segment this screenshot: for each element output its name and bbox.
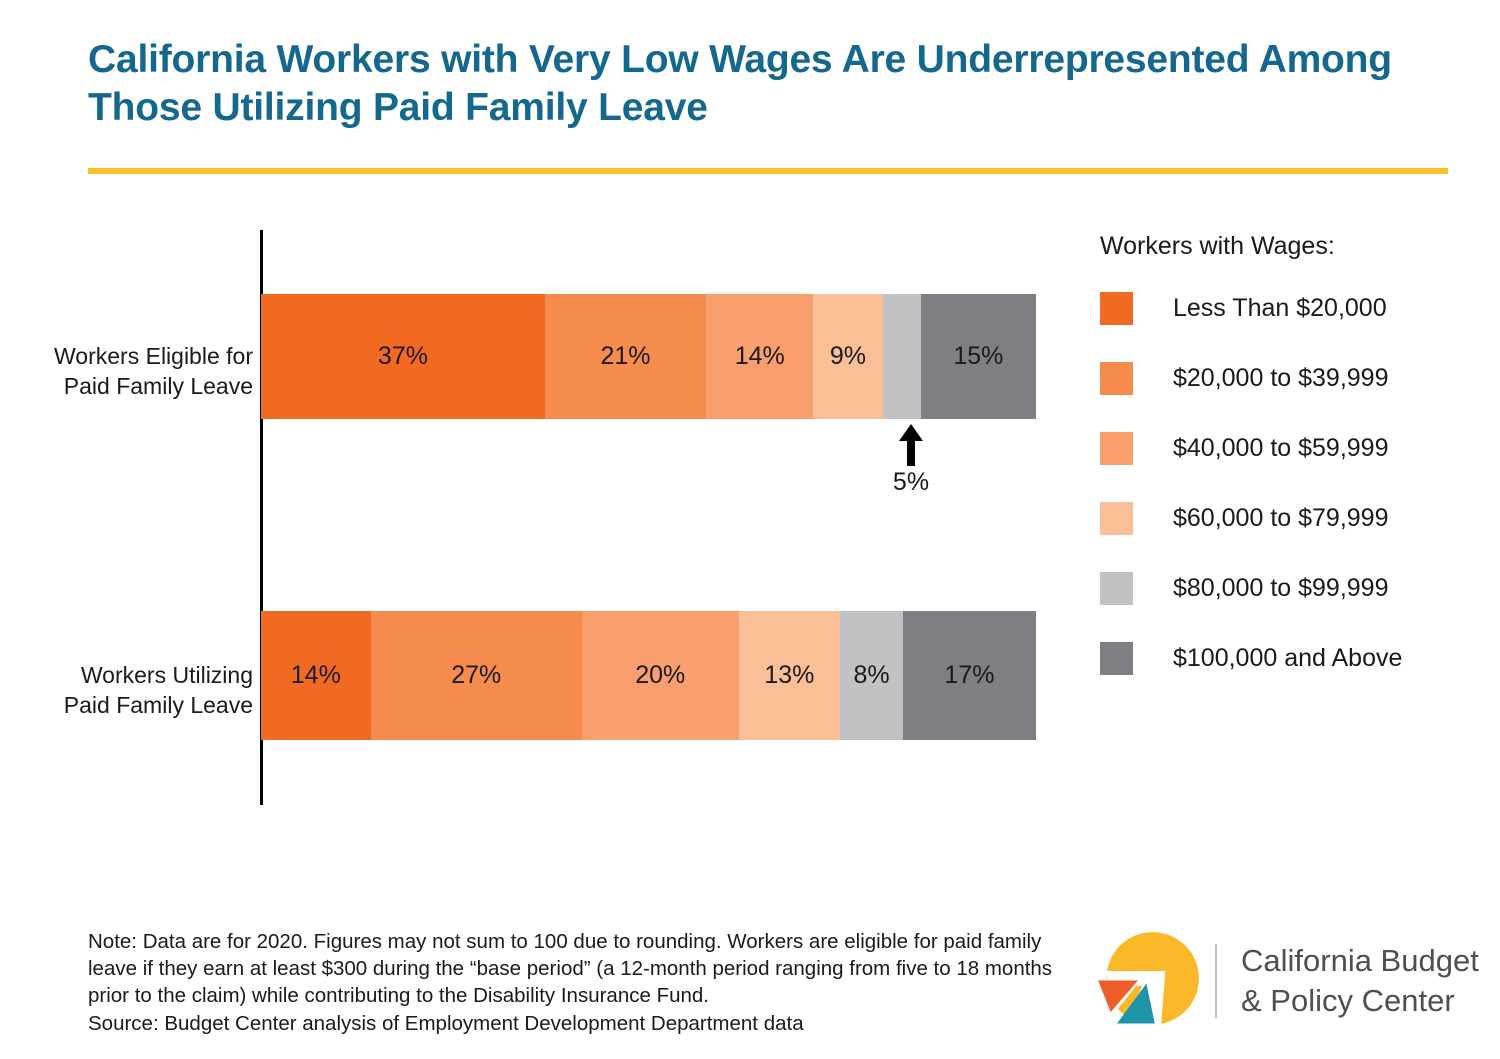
stacked-bar-eligible: 37%21%14%9%15% — [261, 294, 1036, 419]
legend: Workers with Wages: Less Than $20,000$20… — [1100, 232, 1490, 711]
legend-item-label: $40,000 to $59,999 — [1173, 434, 1388, 463]
legend-swatch-icon — [1100, 502, 1133, 535]
legend-item-label: Less Than $20,000 — [1173, 294, 1387, 323]
category-label-eligible-line2: Paid Family Leave — [38, 371, 253, 401]
footnote-note: Note: Data are for 2020. Figures may not… — [88, 928, 1078, 1009]
legend-item-label: $100,000 and Above — [1173, 644, 1402, 673]
bar-segment-eligible-5: 15% — [921, 294, 1036, 419]
category-label-utilizing-line2: Paid Family Leave — [38, 690, 253, 720]
category-label-eligible: Workers Eligible for Paid Family Leave — [38, 341, 253, 401]
bar-segment-utilizing-5: 17% — [903, 611, 1036, 740]
bar-segment-value-label: 9% — [830, 342, 866, 371]
legend-item-5[interactable]: $100,000 and Above — [1100, 641, 1490, 675]
chart-page: California Workers with Very Low Wages A… — [0, 0, 1500, 1059]
bar-segment-value-label: 37% — [378, 342, 428, 371]
callout-label: 5% — [858, 468, 964, 496]
up-arrow-icon — [898, 424, 924, 466]
bar-segment-value-label: 17% — [944, 661, 994, 690]
bar-segment-utilizing-2: 20% — [582, 611, 739, 740]
logo-wordmark: California Budget & Policy Center — [1241, 941, 1479, 1021]
legend-item-3[interactable]: $60,000 to $79,999 — [1100, 501, 1490, 535]
legend-item-label: $80,000 to $99,999 — [1173, 574, 1388, 603]
legend-swatch-icon — [1100, 362, 1133, 395]
footer: Note: Data are for 2020. Figures may not… — [88, 928, 1078, 1037]
category-label-eligible-line1: Workers Eligible for — [38, 341, 253, 371]
bar-segment-utilizing-1: 27% — [371, 611, 582, 740]
category-label-utilizing-line1: Workers Utilizing — [38, 660, 253, 690]
bar-segment-value-label: 15% — [953, 342, 1003, 371]
organization-logo: California Budget & Policy Center — [1096, 925, 1496, 1037]
bar-segment-eligible-0: 37% — [261, 294, 545, 419]
bar-segment-eligible-4 — [883, 294, 921, 419]
bar-segment-eligible-3: 9% — [813, 294, 882, 419]
bar-segment-utilizing-3: 13% — [739, 611, 841, 740]
legend-items-list: Less Than $20,000$20,000 to $39,999$40,0… — [1100, 291, 1490, 675]
bar-segment-value-label: 14% — [291, 661, 341, 690]
legend-item-0[interactable]: Less Than $20,000 — [1100, 291, 1490, 325]
logo-wordmark-line1: California Budget — [1241, 941, 1479, 981]
bar-segment-value-label: 13% — [764, 661, 814, 690]
bar-segment-eligible-2: 14% — [706, 294, 813, 419]
legend-item-label: $60,000 to $79,999 — [1173, 504, 1388, 533]
legend-item-2[interactable]: $40,000 to $59,999 — [1100, 431, 1490, 465]
legend-item-4[interactable]: $80,000 to $99,999 — [1100, 571, 1490, 605]
logo-wordmark-line2: & Policy Center — [1241, 981, 1479, 1021]
logo-divider — [1215, 944, 1217, 1018]
legend-swatch-icon — [1100, 572, 1133, 605]
legend-swatch-icon — [1100, 292, 1133, 325]
category-label-utilizing: Workers Utilizing Paid Family Leave — [38, 660, 253, 720]
legend-swatch-icon — [1100, 642, 1133, 675]
bar-segment-value-label: 20% — [635, 661, 685, 690]
footnote-source: Source: Budget Center analysis of Employ… — [88, 1010, 1078, 1037]
legend-item-label: $20,000 to $39,999 — [1173, 364, 1388, 393]
legend-heading: Workers with Wages: — [1100, 232, 1490, 261]
callout-5-percent: 5% — [858, 424, 964, 496]
bar-segment-value-label: 8% — [854, 661, 890, 690]
legend-swatch-icon — [1100, 432, 1133, 465]
bar-segment-value-label: 21% — [600, 342, 650, 371]
bar-segment-value-label: 14% — [735, 342, 785, 371]
bar-segment-eligible-1: 21% — [545, 294, 706, 419]
bar-segment-value-label: 27% — [451, 661, 501, 690]
bar-segment-utilizing-0: 14% — [261, 611, 371, 740]
stacked-bar-utilizing: 14%27%20%13%8%17% — [261, 611, 1036, 740]
legend-item-1[interactable]: $20,000 to $39,999 — [1100, 361, 1490, 395]
cbpc-logo-icon — [1096, 929, 1201, 1034]
bar-segment-utilizing-4: 8% — [840, 611, 903, 740]
